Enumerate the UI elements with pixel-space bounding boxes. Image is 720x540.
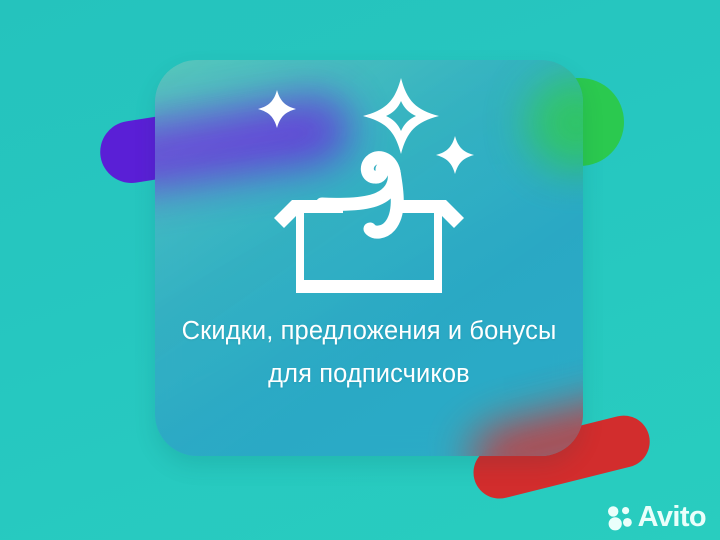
avito-wordmark: Avito xyxy=(638,503,706,532)
avito-dots-icon xyxy=(607,505,633,531)
card-content: Скидки, предложения и бонусы для подписч… xyxy=(155,60,583,456)
gift-box-sparkles-icon xyxy=(244,74,494,306)
promo-heading: Скидки, предложения и бонусы для подписч… xyxy=(159,310,579,396)
promo-glass-card: Скидки, предложения и бонусы для подписч… xyxy=(155,60,583,456)
avito-logo: Avito xyxy=(607,503,706,532)
promo-heading-line-2: для подписчиков xyxy=(159,353,579,396)
promo-banner: Скидки, предложения и бонусы для подписч… xyxy=(0,0,720,540)
promo-heading-line-1: Скидки, предложения и бонусы xyxy=(159,310,579,353)
